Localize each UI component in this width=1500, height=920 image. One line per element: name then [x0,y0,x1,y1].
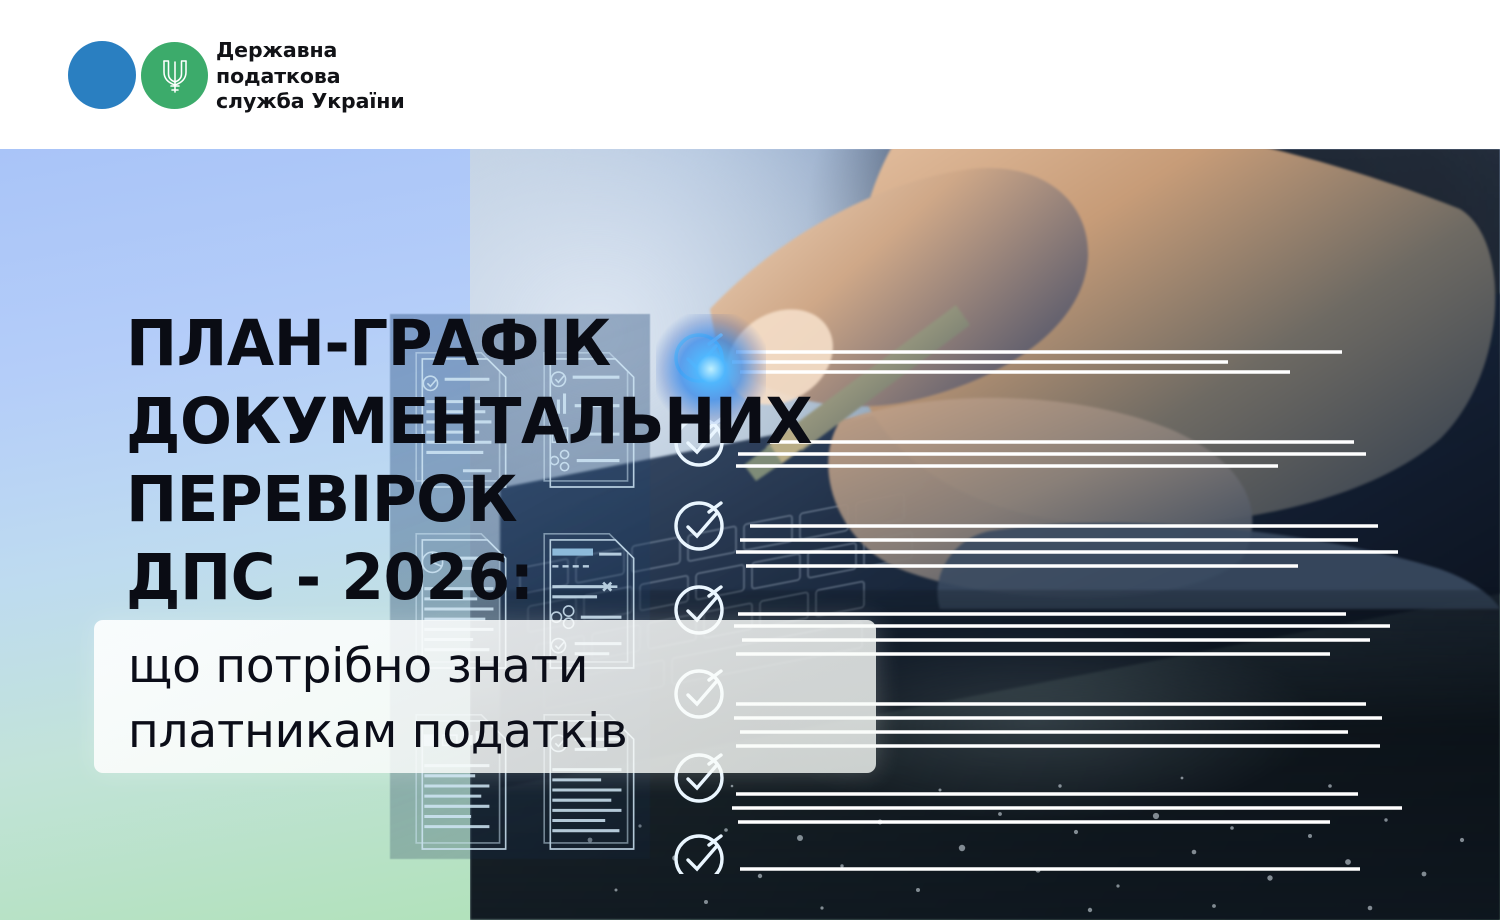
hologram-text-lines [730,324,1430,884]
dps-logo[interactable]: Державна податкова служба України [68,38,405,115]
logo-circle-blue-icon [68,41,136,109]
logo-circle-green-icon [141,42,208,109]
banner-stage: ПЛАН-ГРАФІК ДОКУМЕНТАЛЬНИХ ПЕРЕВІРОК ДПС… [0,0,1500,920]
page-title: ПЛАН-ГРАФІК ДОКУМЕНТАЛЬНИХ ПЕРЕВІРОК ДПС… [126,305,812,617]
subtitle-text: що потрібно знати платникам податків [128,634,628,764]
logo-text: Державна податкова служба України [216,38,405,115]
header-bar: Державна податкова служба України [0,0,1500,149]
logo-marks [68,41,200,111]
ukraine-trident-icon [160,57,190,95]
